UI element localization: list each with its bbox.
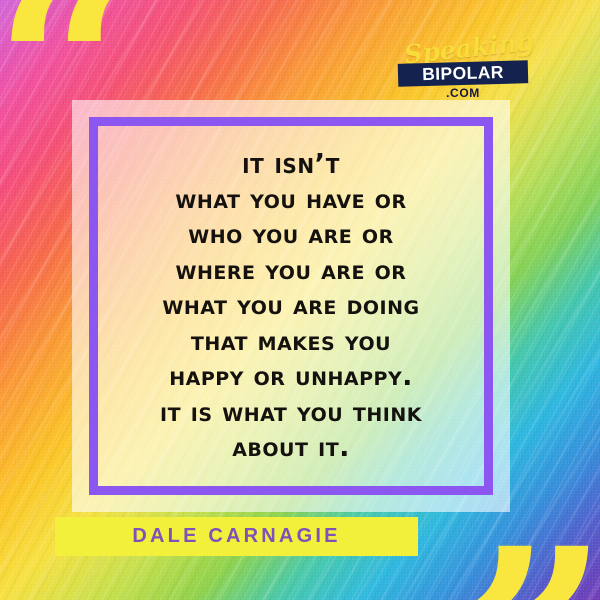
logo-banner-word: BIPOLAR	[422, 62, 504, 85]
quote-line: what you are doing	[162, 288, 419, 324]
attribution-author-name: DALE CARNAGIE	[132, 525, 340, 548]
logo-banner: BIPOLAR	[398, 60, 529, 87]
brand-logo[interactable]: Speaking BIPOLAR .COM	[398, 36, 530, 106]
quote-line: what you have or	[175, 182, 406, 218]
quote-text-block: It isn’t what you have or who you are or…	[98, 128, 484, 484]
quote-line: who you are or	[188, 217, 393, 253]
quote-line: happy or unhappy.	[169, 359, 413, 395]
quote-line: It is what you think	[160, 395, 422, 431]
quote-line: about it.	[232, 430, 350, 466]
quote-line: where you are or	[176, 253, 407, 289]
logo-tld: .COM	[398, 86, 528, 100]
quote-line: that makes you	[191, 324, 391, 360]
quote-poster: “ It isn’t what you have or who you are …	[0, 0, 600, 600]
quote-line: It isn’t	[242, 146, 340, 182]
attribution-banner: DALE CARNAGIE	[55, 517, 418, 556]
